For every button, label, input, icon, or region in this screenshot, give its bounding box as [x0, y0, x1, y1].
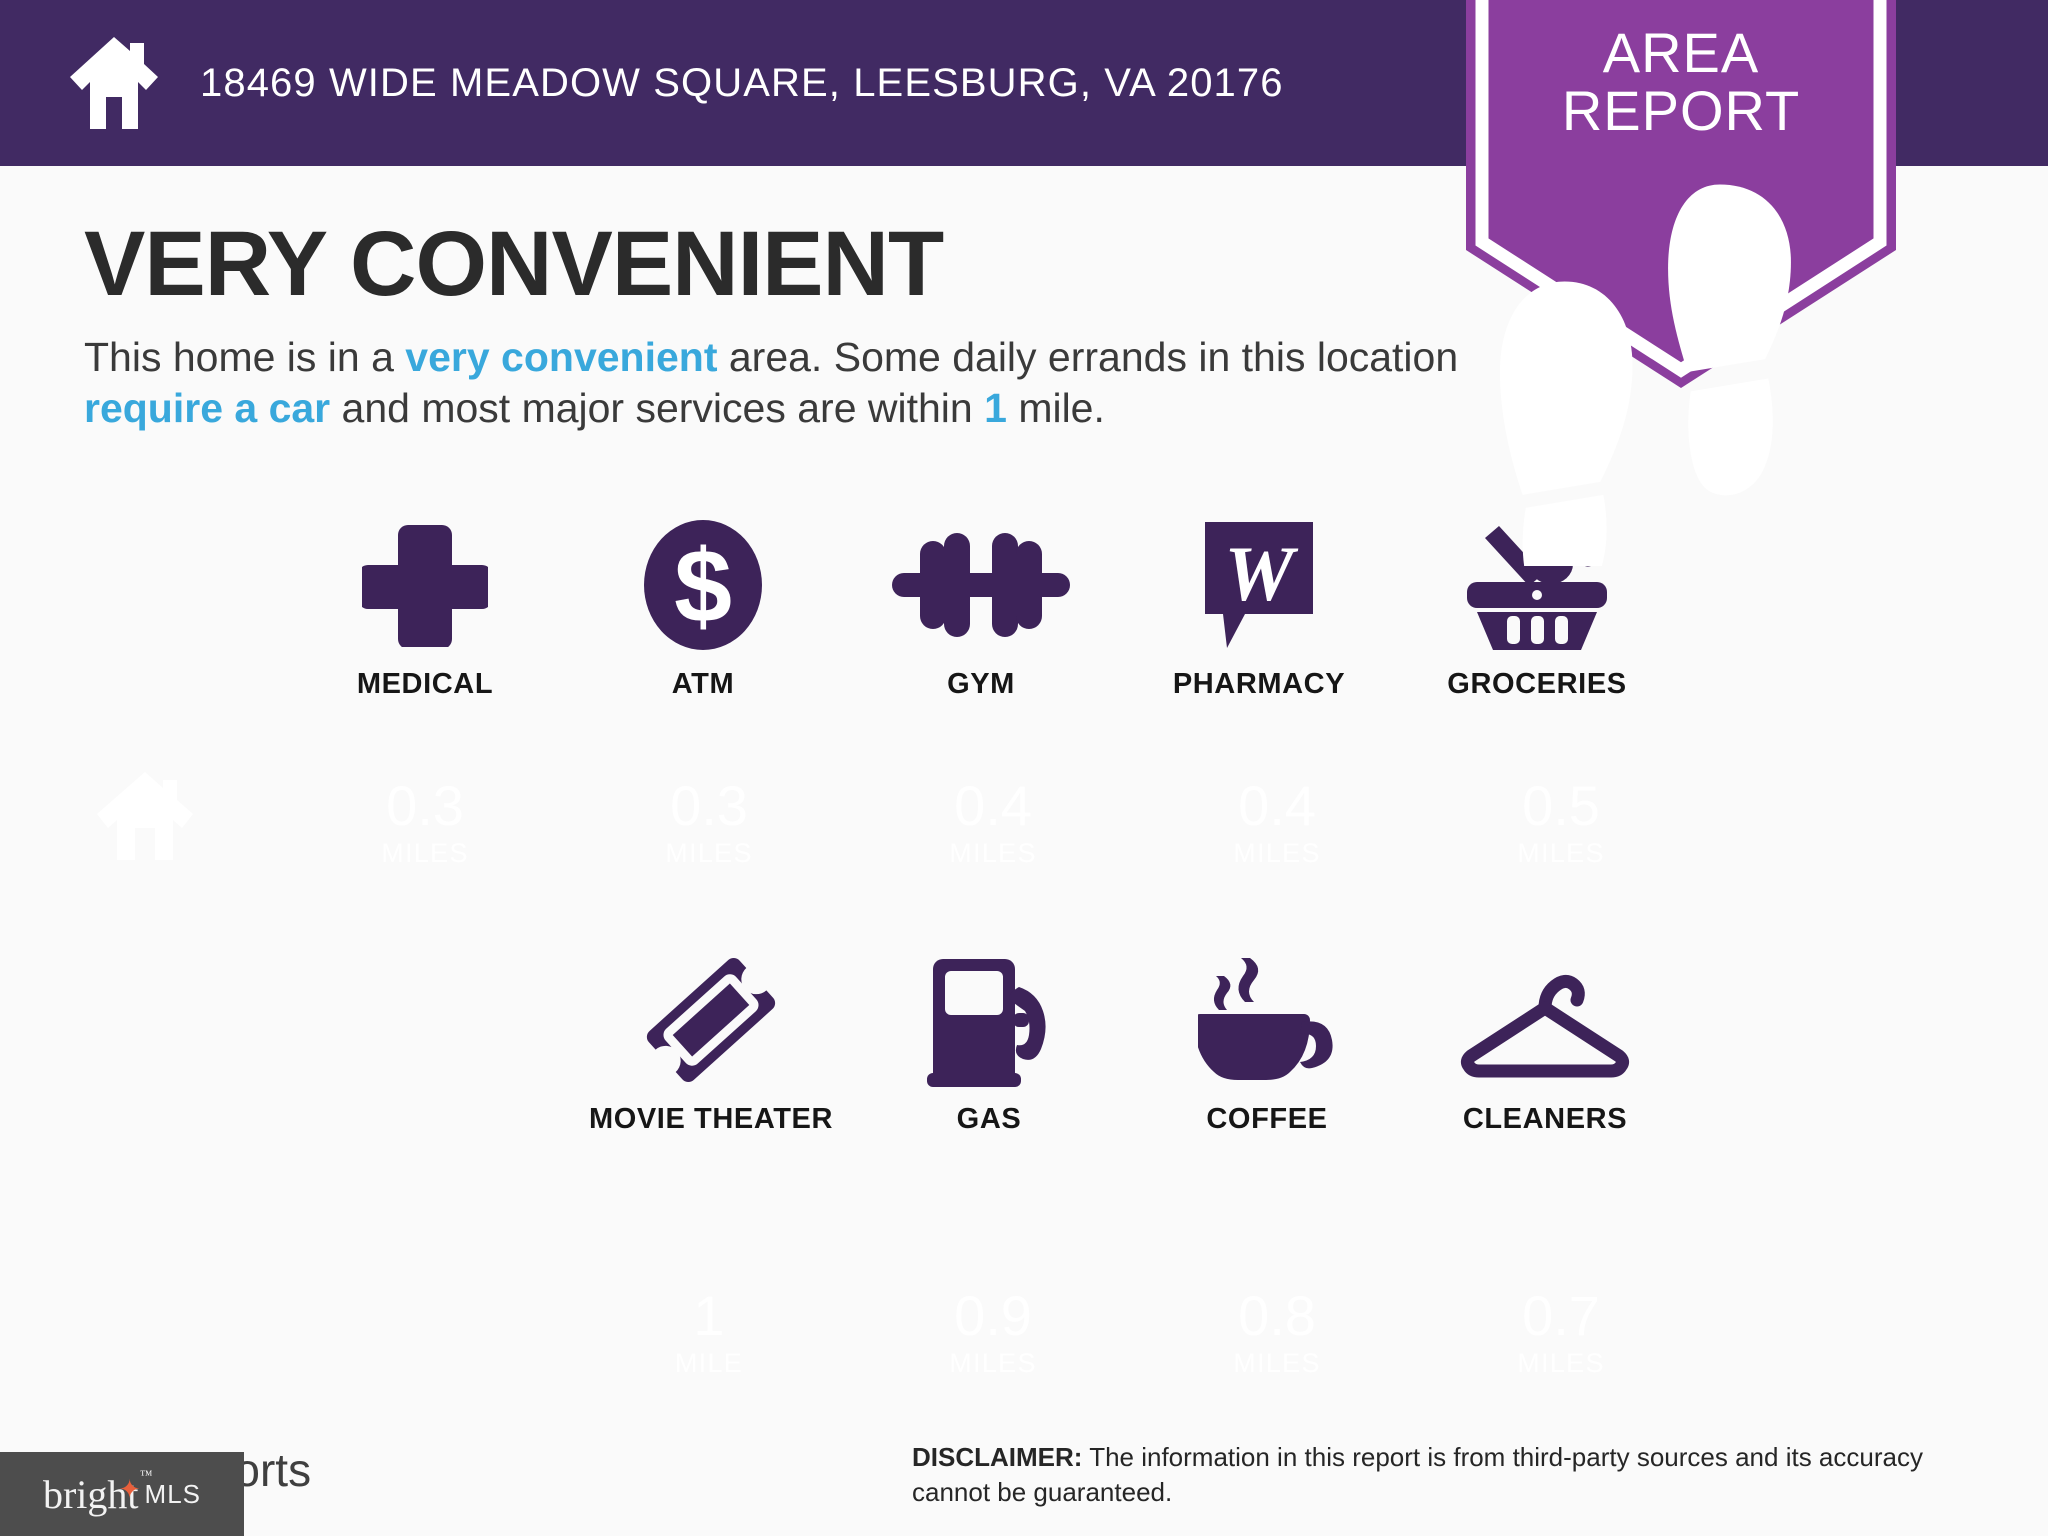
amenity-medical-label: MEDICAL	[357, 668, 493, 701]
value-atm: 0.3 MILES	[570, 778, 848, 869]
segment-bend-2	[1704, 1020, 2048, 1250]
amenity-atm: $ ATM	[564, 520, 842, 701]
amenity-cleaners-label: CLEANERS	[1463, 1103, 1627, 1136]
segment-bend-1a	[1704, 734, 2048, 886]
walgreens-w-icon: W	[1201, 520, 1317, 650]
value-medical: 0.3 MILES	[286, 778, 564, 869]
value-coffee: 0.8 MILES	[1138, 1288, 1416, 1379]
amenity-medical: MEDICAL	[286, 520, 564, 701]
amenity-movie-theater: MOVIE THEATER	[572, 955, 850, 1136]
hanger-icon	[1459, 955, 1631, 1085]
value-cleaners-unit: MILES	[1422, 1348, 1700, 1379]
segment-bend-1b	[1704, 886, 2048, 1020]
bright-mls-logo: bright ✦ ™ MLS	[0, 1452, 244, 1536]
amenity-movie-theater-label: MOVIE THEATER	[589, 1103, 833, 1136]
disclaimer: DISCLAIMER: The information in this repo…	[912, 1440, 1972, 1510]
dollar-circle-icon: $	[642, 520, 764, 650]
amenity-gas-label: GAS	[957, 1103, 1022, 1136]
value-gym-number: 0.4	[854, 778, 1132, 834]
value-groceries: 0.5 MILES	[1422, 778, 1700, 869]
svg-text:W: W	[1224, 530, 1298, 617]
value-gym: 0.4 MILES	[854, 778, 1132, 869]
value-groceries-unit: MILES	[1422, 838, 1700, 869]
amenity-gym: GYM	[842, 520, 1120, 701]
value-coffee-unit: MILES	[1138, 1348, 1416, 1379]
disclaimer-label: DISCLAIMER:	[912, 1442, 1082, 1472]
value-pharmacy-number: 0.4	[1138, 778, 1416, 834]
value-pharmacy: 0.4 MILES	[1138, 778, 1416, 869]
value-medical-number: 0.3	[286, 778, 564, 834]
svg-text:$: $	[674, 529, 732, 645]
amenity-pharmacy-label: PHARMACY	[1173, 668, 1345, 701]
value-gas: 0.9 MILES	[854, 1288, 1132, 1379]
value-movie-theater-number: 1	[570, 1288, 848, 1344]
amenity-gas: GAS	[850, 955, 1128, 1136]
house-icon	[95, 770, 195, 867]
amenity-gym-label: GYM	[947, 668, 1015, 701]
value-pharmacy-unit: MILES	[1138, 838, 1416, 869]
dumbbell-icon	[892, 520, 1070, 650]
amenity-atm-label: ATM	[672, 668, 734, 701]
value-atm-number: 0.3	[570, 778, 848, 834]
segment-bend-3	[280, 1245, 568, 1536]
value-groceries-number: 0.5	[1422, 778, 1700, 834]
logo-mls-text: MLS	[145, 1479, 201, 1510]
value-cleaners: 0.7 MILES	[1422, 1288, 1700, 1379]
ticket-icon	[644, 955, 778, 1085]
footprints-icon	[1466, 178, 1896, 566]
medical-cross-icon	[362, 520, 488, 650]
value-movie-theater: 1 MILE	[570, 1288, 848, 1379]
coffee-cup-icon	[1198, 955, 1336, 1085]
amenity-pharmacy: W PHARMACY	[1120, 520, 1398, 701]
logo-wordmark: bright ✦ ™	[43, 1471, 139, 1518]
area-report-badge: AREA REPORT	[1466, 0, 1896, 388]
value-movie-theater-unit: MILE	[570, 1348, 848, 1379]
value-gas-unit: MILES	[854, 1348, 1132, 1379]
gas-pump-icon	[927, 955, 1051, 1085]
value-gym-unit: MILES	[854, 838, 1132, 869]
value-medical-unit: MILES	[286, 838, 564, 869]
amenity-cleaners: CLEANERS	[1406, 955, 1684, 1136]
badge-title: AREA REPORT	[1466, 24, 1896, 139]
amenity-groceries-label: GROCERIES	[1447, 668, 1626, 701]
value-atm-unit: MILES	[570, 838, 848, 869]
trademark-icon: ™	[140, 1467, 153, 1483]
amenity-coffee: COFFEE	[1128, 955, 1406, 1136]
spark-icon: ✦	[119, 1475, 141, 1505]
value-gas-number: 0.9	[854, 1288, 1132, 1344]
value-cleaners-number: 0.7	[1422, 1288, 1700, 1344]
badge-line-2: REPORT	[1466, 82, 1896, 140]
badge-line-1: AREA	[1466, 24, 1896, 82]
value-coffee-number: 0.8	[1138, 1288, 1416, 1344]
amenity-row-2: MOVIE THEATER GAS	[572, 955, 1684, 1136]
amenity-coffee-label: COFFEE	[1206, 1103, 1327, 1136]
